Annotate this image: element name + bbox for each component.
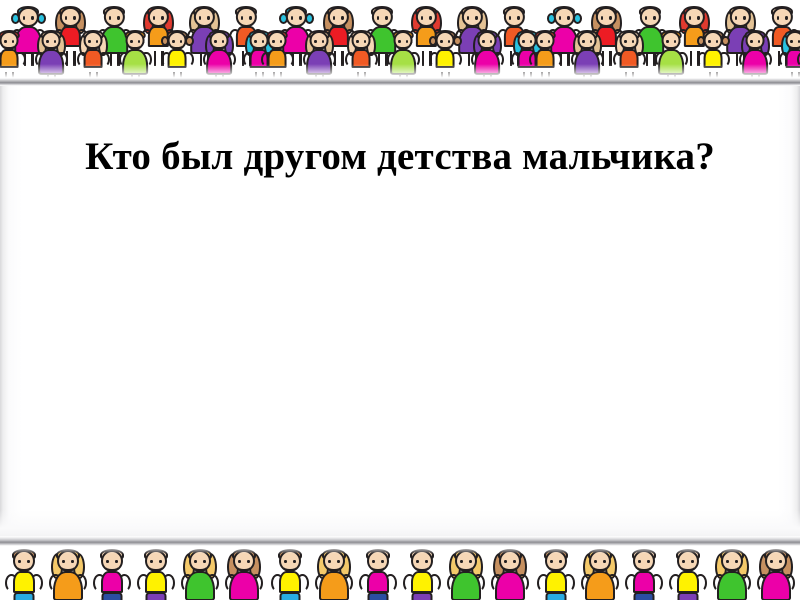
kid-smile xyxy=(735,19,746,27)
cartoon-kid xyxy=(314,548,354,600)
kid-dress xyxy=(574,49,600,75)
kid-shorts xyxy=(678,592,699,600)
kid-smile xyxy=(153,19,164,27)
kid-shorts xyxy=(412,592,433,600)
kid-shorts xyxy=(280,592,301,600)
kid-shirt xyxy=(677,571,699,593)
cartoon-kid xyxy=(738,29,772,80)
cartoon-kid xyxy=(470,29,504,80)
kid-smile xyxy=(509,19,520,27)
kid-shirt xyxy=(0,49,19,68)
kid-smile xyxy=(726,563,738,571)
kid-smile xyxy=(284,563,296,571)
cartoon-kid xyxy=(302,29,336,80)
kid-dress xyxy=(495,571,525,600)
kid-dress xyxy=(761,571,791,600)
cartoon-kid xyxy=(756,548,796,600)
cartoon-kid xyxy=(136,548,176,600)
kid-smile xyxy=(601,19,612,27)
kid-smile xyxy=(238,563,250,571)
cartoon-kid xyxy=(402,548,442,600)
kid-shirt xyxy=(101,571,123,593)
children-tile xyxy=(268,0,536,80)
cartoon-kid xyxy=(260,29,294,80)
kid-shirt xyxy=(367,571,389,593)
kid-dress xyxy=(206,49,232,75)
kid-dress xyxy=(742,49,768,75)
kid-dress xyxy=(474,49,500,75)
kid-smile xyxy=(550,563,562,571)
kid-smile xyxy=(194,563,206,571)
kid-shirt xyxy=(633,571,655,593)
kid-smile xyxy=(377,19,388,27)
children-tile xyxy=(532,546,798,600)
top-children-strip xyxy=(0,0,800,80)
cartoon-kid xyxy=(580,548,620,600)
top-children-border xyxy=(0,0,800,80)
cartoon-kid xyxy=(654,29,688,80)
cartoon-kid xyxy=(696,29,730,80)
kid-dress xyxy=(717,571,747,600)
kid-dress xyxy=(390,49,416,75)
kid-dress xyxy=(658,49,684,75)
kid-dress xyxy=(122,49,148,75)
kid-smile xyxy=(460,563,472,571)
cartoon-kid xyxy=(344,29,378,80)
kid-leg-left xyxy=(690,51,692,66)
kid-leg-left xyxy=(154,51,156,66)
cartoon-kid xyxy=(428,29,462,80)
kid-smile xyxy=(638,563,650,571)
kid-smile xyxy=(559,19,570,27)
kid-shirt xyxy=(268,49,287,68)
cartoon-kid xyxy=(34,29,68,80)
kid-smile xyxy=(645,19,656,27)
question-title: Кто был другом детства мальчика? xyxy=(85,134,715,180)
kid-dress xyxy=(306,49,332,75)
cartoon-kid xyxy=(712,548,752,600)
kid-shirt xyxy=(145,571,167,593)
kid-dress xyxy=(53,571,83,600)
kid-smile xyxy=(328,563,340,571)
slide-canvas: Кто был другом детства мальчика? xyxy=(0,0,800,600)
kid-smile xyxy=(199,19,210,27)
kid-smile xyxy=(777,19,788,27)
cartoon-kid xyxy=(490,548,530,600)
bottom-separator-bar xyxy=(0,536,800,546)
kid-dress xyxy=(185,571,215,600)
kid-smile xyxy=(416,563,428,571)
kid-smile xyxy=(421,19,432,27)
kid-shirt xyxy=(704,49,723,68)
cartoon-kid xyxy=(180,548,220,600)
kid-smile xyxy=(241,19,252,27)
bottom-children-border xyxy=(0,546,800,600)
kid-smile xyxy=(65,19,76,27)
kid-shorts xyxy=(146,592,167,600)
kid-smile xyxy=(62,563,74,571)
kid-dress xyxy=(38,49,64,75)
kid-smile xyxy=(770,563,782,571)
top-separator-bar xyxy=(0,78,800,86)
kid-smile xyxy=(467,19,478,27)
kid-smile xyxy=(333,19,344,27)
children-tile xyxy=(0,0,268,80)
kid-shorts xyxy=(546,592,567,600)
kid-dress xyxy=(451,571,481,600)
cartoon-kid xyxy=(668,548,708,600)
kid-shirt xyxy=(13,571,35,593)
kid-dress xyxy=(585,571,615,600)
kid-shirt xyxy=(279,571,301,593)
kid-smile xyxy=(18,563,30,571)
cartoon-kid xyxy=(76,29,110,80)
kid-shirt xyxy=(536,49,555,68)
kid-shirt xyxy=(352,49,371,68)
kid-shirt xyxy=(620,49,639,68)
cartoon-kid xyxy=(92,548,132,600)
kid-shorts xyxy=(14,592,35,600)
cartoon-kid xyxy=(528,29,562,80)
children-tile xyxy=(536,0,800,80)
cartoon-kid xyxy=(48,548,88,600)
cartoon-kid xyxy=(118,29,152,80)
kid-smile xyxy=(594,563,606,571)
cartoon-kid xyxy=(202,29,236,80)
cartoon-kid xyxy=(270,548,310,600)
cartoon-kid xyxy=(536,548,576,600)
kid-shirt xyxy=(436,49,455,68)
cartoon-kid xyxy=(358,548,398,600)
kid-smile xyxy=(291,19,302,27)
children-tile xyxy=(0,546,266,600)
kid-smile xyxy=(504,563,516,571)
kid-smile xyxy=(109,19,120,27)
kid-shirt xyxy=(411,571,433,593)
cartoon-kid xyxy=(386,29,420,80)
question-area: Кто был другом детства мальчика? xyxy=(0,134,800,180)
kid-smile xyxy=(689,19,700,27)
cartoon-kid xyxy=(796,29,800,80)
kid-dress xyxy=(319,571,349,600)
kid-shirt xyxy=(84,49,103,68)
kid-shorts xyxy=(368,592,389,600)
cartoon-kid xyxy=(624,548,664,600)
kid-smile xyxy=(23,19,34,27)
kid-shirt xyxy=(168,49,187,68)
kid-smile xyxy=(372,563,384,571)
kid-shorts xyxy=(102,592,123,600)
kid-shorts xyxy=(634,592,655,600)
content-panel: Кто был другом детства мальчика? xyxy=(0,86,800,536)
cartoon-kid xyxy=(224,548,264,600)
cartoon-kid xyxy=(570,29,604,80)
cartoon-kid xyxy=(4,548,44,600)
cartoon-kid xyxy=(0,29,26,80)
kid-smile xyxy=(682,563,694,571)
cartoon-kid xyxy=(446,548,486,600)
cartoon-kid xyxy=(160,29,194,80)
children-tile xyxy=(266,546,532,600)
kid-leg-left xyxy=(422,51,424,66)
kid-smile xyxy=(150,563,162,571)
cartoon-kid xyxy=(612,29,646,80)
bottom-children-strip xyxy=(0,546,800,600)
kid-shirt xyxy=(545,571,567,593)
kid-smile xyxy=(106,563,118,571)
kid-dress xyxy=(229,571,259,600)
